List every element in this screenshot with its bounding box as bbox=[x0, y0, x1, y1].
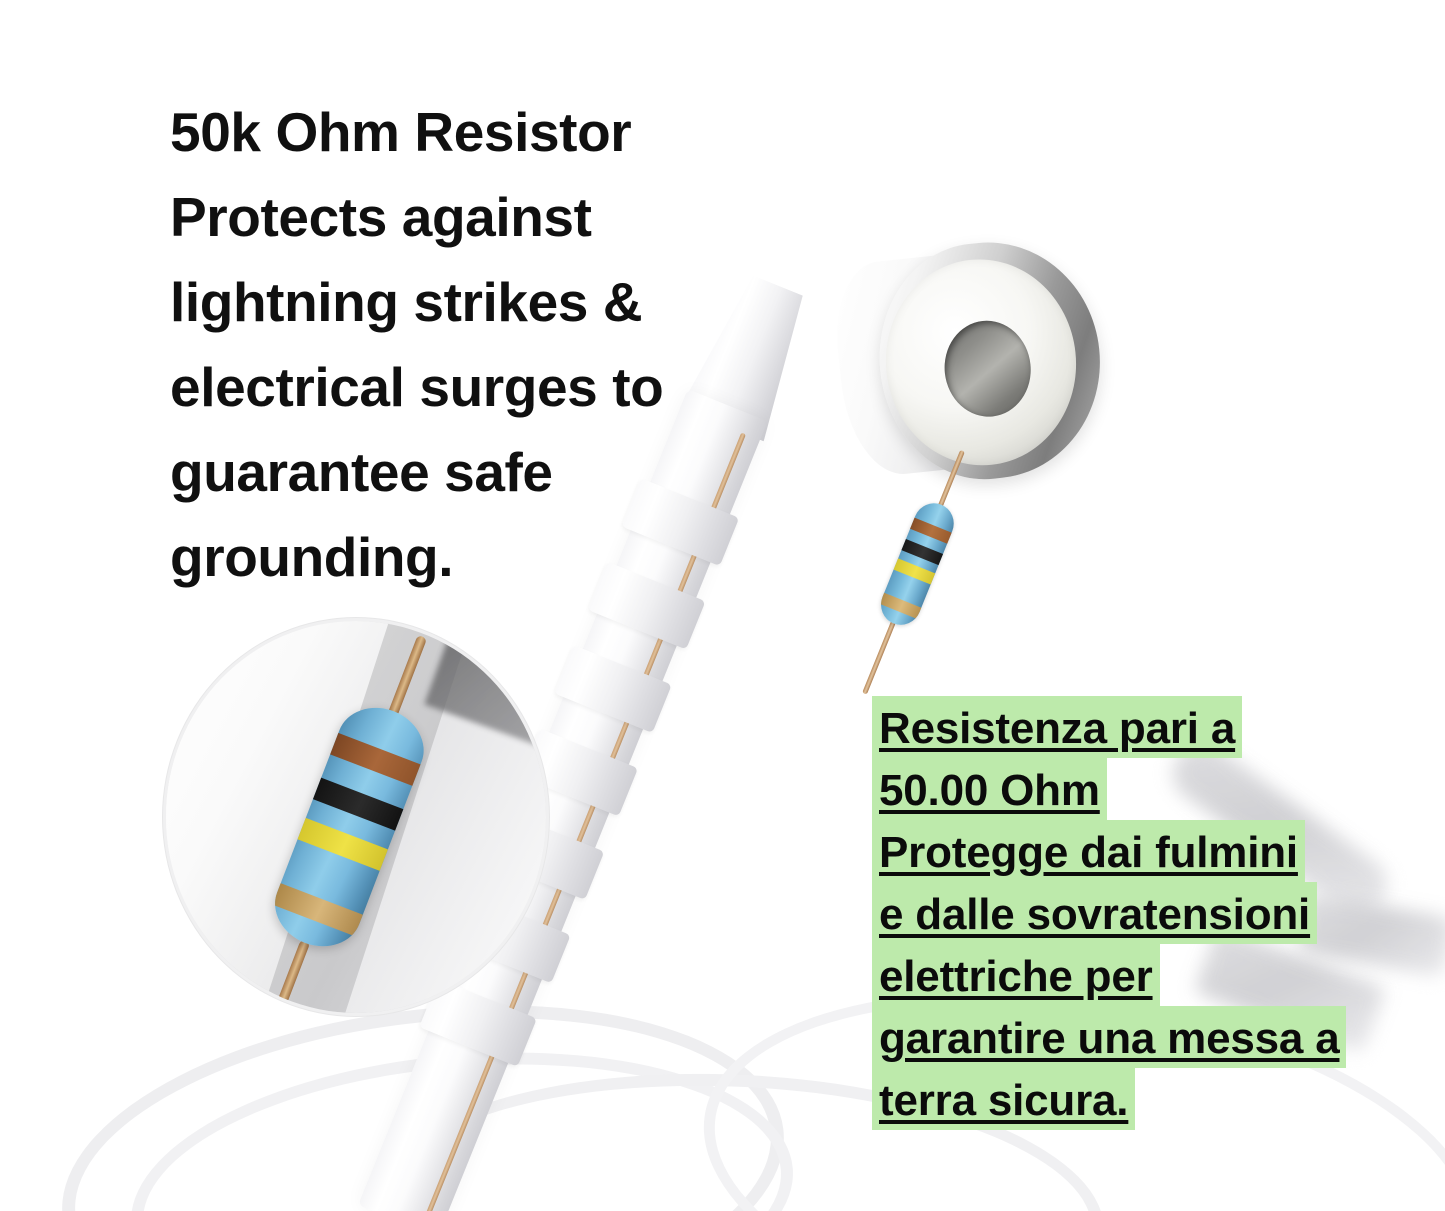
headline-text: 50k Ohm Resistor Protects against lightn… bbox=[170, 90, 730, 600]
connector-bore-hole bbox=[940, 316, 1036, 420]
resistor-band-gold bbox=[875, 590, 929, 621]
translation-line: terra sicura. bbox=[872, 1068, 1135, 1130]
translation-line: Protegge dai fulmini bbox=[872, 820, 1305, 882]
metal-eyelet-connector bbox=[828, 225, 1123, 502]
translation-line: 50.00 Ohm bbox=[872, 758, 1107, 820]
translation-line: e dalle sovratensioni bbox=[872, 882, 1317, 944]
translation-line: Resistenza pari a bbox=[872, 696, 1242, 758]
translation-line: elettriche per bbox=[872, 944, 1160, 1006]
resistor-lead bbox=[862, 620, 896, 694]
translation-line: garantire una messa a bbox=[872, 1006, 1346, 1068]
product-feature-image: 50k Ohm Resistor Protects against lightn… bbox=[0, 0, 1445, 1211]
resistor-band-gold bbox=[264, 878, 380, 942]
magnifier-inset bbox=[163, 618, 549, 1016]
translation-overlay: Resistenza pari a 50.00 Ohm Protegge dai… bbox=[872, 696, 1392, 1130]
